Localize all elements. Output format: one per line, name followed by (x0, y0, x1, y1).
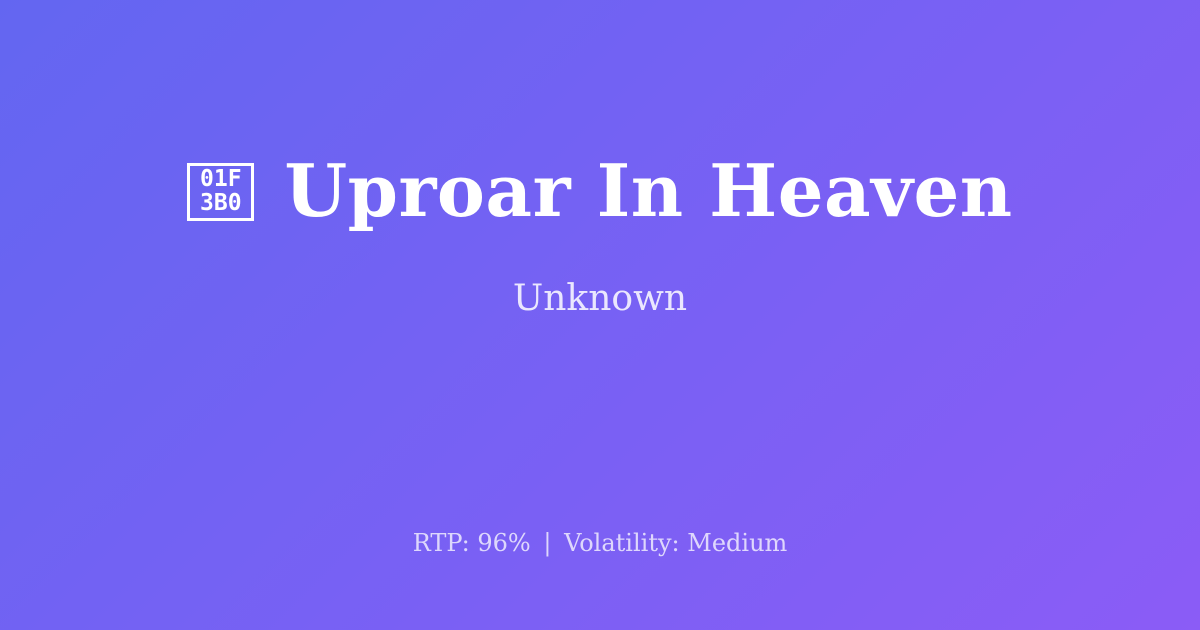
hero-section: 01F 3B0 Uproar In Heaven Unknown (0, 0, 1200, 497)
game-preview-card: 01F 3B0 Uproar In Heaven Unknown RTP: 96… (0, 0, 1200, 630)
rtp-label: RTP: (413, 529, 470, 557)
slot-machine-icon-codepoint-high: 01F (200, 168, 242, 192)
volatility-label: Volatility: (564, 529, 680, 557)
meta-separator: | (538, 529, 556, 557)
title-row: 01F 3B0 Uproar In Heaven (187, 154, 1012, 229)
rtp-value: 96% (477, 529, 530, 557)
game-title: Uproar In Heaven (284, 154, 1012, 229)
game-provider-subtitle: Unknown (513, 277, 687, 320)
game-meta-footer: RTP: 96% | Volatility: Medium (0, 528, 1200, 559)
volatility-value: Medium (687, 529, 787, 557)
slot-machine-icon: 01F 3B0 (187, 163, 254, 221)
slot-machine-icon-codepoint-low: 3B0 (200, 192, 242, 216)
